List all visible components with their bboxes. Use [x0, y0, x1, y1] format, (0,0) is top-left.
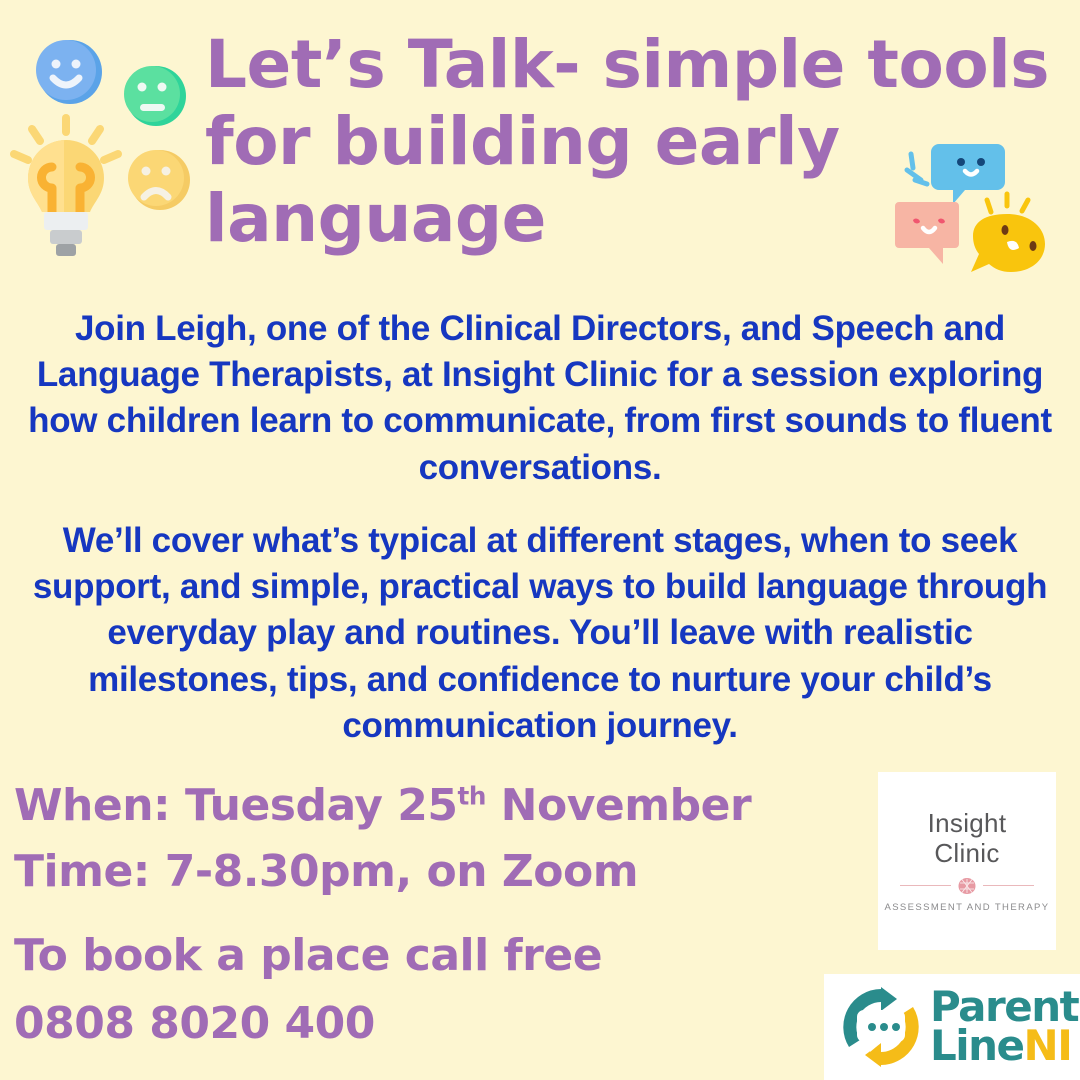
when-month: November — [486, 780, 751, 831]
insight-clinic-name-line1: Insight — [928, 809, 1007, 839]
decoration-cluster-left — [8, 28, 208, 258]
poster-title: Let’s Talk- simple tools for building ea… — [205, 26, 1055, 258]
parentline-ni-logo: Parent LineNI ™ — [824, 974, 1080, 1080]
parentline-word-lineni: LineNI — [930, 1027, 1078, 1066]
insight-clinic-name-line2: Clinic — [928, 839, 1007, 869]
insight-clinic-logo: Insight Clinic ASSESSMENT AND THERAPY — [878, 772, 1056, 950]
divider-rule-left — [900, 885, 951, 886]
neutral-face-icon — [124, 66, 186, 126]
when-ordinal: th — [458, 781, 486, 810]
divider-rule-right — [983, 885, 1034, 886]
parentline-word-line: Line — [930, 1021, 1024, 1070]
happy-face-icon — [36, 40, 102, 104]
time-line: Time: 7-8.30pm, on Zoom — [14, 846, 638, 897]
parentline-wordmark: Parent LineNI ™ — [930, 988, 1078, 1065]
brain-icon — [957, 877, 977, 895]
lightbulb-icon — [28, 140, 104, 256]
poster-canvas: Let’s Talk- simple tools for building ea… — [0, 0, 1080, 1080]
parentline-word-ni: NI — [1024, 1021, 1072, 1070]
when-line: When: Tuesday 25th November — [14, 780, 751, 831]
insight-clinic-name: Insight Clinic — [928, 809, 1007, 868]
phone-number[interactable]: 0808 8020 400 — [14, 998, 375, 1049]
details-paragraph: We’ll cover what’s typical at different … — [18, 518, 1062, 749]
insight-clinic-divider — [900, 877, 1034, 895]
intro-paragraph: Join Leigh, one of the Clinical Director… — [18, 306, 1062, 491]
parentline-swoosh-icon — [838, 984, 924, 1070]
booking-call-line: To book a place call free — [14, 930, 602, 981]
insight-clinic-tagline: ASSESSMENT AND THERAPY — [884, 902, 1049, 913]
sad-face-icon — [128, 150, 190, 210]
when-label: When: Tuesday 25 — [14, 780, 458, 831]
